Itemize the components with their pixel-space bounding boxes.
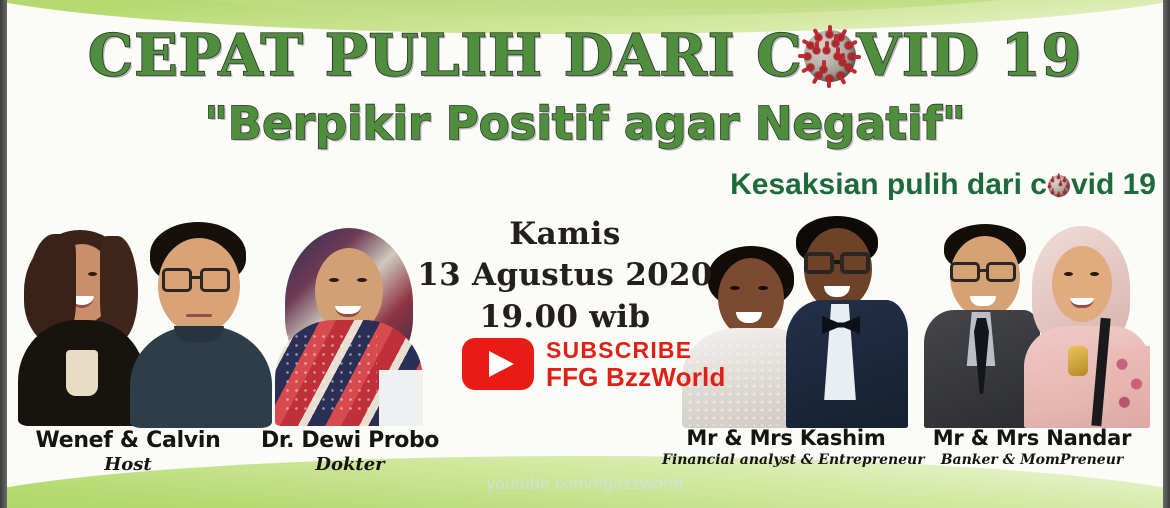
wenef-eye-right: [88, 272, 97, 276]
speaker-caption-kashim: Mr & Mrs Kashim Financial analyst & Entr…: [662, 426, 910, 470]
kashim-bride-face: [718, 258, 784, 338]
coronavirus-icon: [804, 30, 856, 82]
nandar-woman-face: [1052, 246, 1112, 322]
headline-text-after: VID 19: [857, 22, 1082, 89]
speaker-caption-nandar: Mr & Mrs Nandar Banker & MomPreneur: [912, 426, 1152, 470]
calvin-glasses-bridge: [192, 276, 200, 279]
subscribe-labels: SUBSCRIBE FFG BzzWorld: [546, 339, 726, 390]
speaker-name: Wenef & Calvin: [8, 428, 248, 454]
kashim-groom-glasses-bridge: [834, 260, 840, 264]
poster-subtitle: "Berpikir Positif agar Negatif": [0, 98, 1170, 150]
speaker-name: Mr & Mrs Kashim: [662, 426, 910, 451]
photo-dewi: [275, 228, 423, 426]
dewi-shirt: [379, 370, 423, 426]
wenef-necklace: [66, 350, 98, 396]
nandar-woman-eye-right: [1090, 272, 1099, 276]
speaker-role: Dokter: [250, 454, 450, 476]
subscribe-cta[interactable]: SUBSCRIBE FFG BzzWorld: [462, 338, 726, 390]
nandar-woman-floral-sleeve: [1110, 346, 1150, 422]
calvin-mouth: [186, 314, 212, 317]
speaker-name: Mr & Mrs Nandar: [912, 426, 1152, 451]
photo-calvin: [128, 222, 272, 428]
event-schedule: Kamis 13 Agustus 2020 19.00 wib: [410, 214, 720, 338]
event-time: 19.00 wib: [410, 296, 720, 338]
photo-wenef: [18, 228, 146, 426]
event-day: Kamis: [410, 214, 720, 254]
event-date: 13 Agustus 2020: [410, 254, 720, 296]
speaker-role: Banker & MomPreneur: [912, 451, 1152, 470]
kashim-groom-glasses-right: [840, 252, 870, 274]
speaker-role: Financial analyst & Entrepreneur: [662, 451, 910, 470]
nandar-woman-brooch: [1068, 346, 1088, 376]
nandar-man-glasses-bridge: [980, 269, 986, 272]
calvin-glasses-right: [200, 268, 230, 292]
kesaksian-line: Kesaksian pulih dari c vid 19: [730, 168, 1156, 202]
kashim-bride-eye-right: [758, 286, 768, 290]
calvin-glasses-left: [162, 268, 192, 292]
youtube-play-icon[interactable]: [462, 338, 534, 390]
right-edge-frame: [1163, 0, 1170, 508]
nandar-man-glasses-left: [950, 262, 980, 282]
photo-nandar: [924, 218, 1150, 428]
left-edge-frame: [0, 0, 7, 508]
coronavirus-body: [804, 30, 856, 82]
dewi-eye-left: [329, 278, 339, 282]
dewi-eye-right: [357, 278, 367, 282]
coronavirus-body-small: [1048, 175, 1070, 197]
nandar-woman-eye-left: [1064, 272, 1073, 276]
channel-name: FFG BzzWorld: [546, 364, 726, 390]
channel-watermark: youtube.com/ffgbzzworld: [0, 474, 1170, 494]
kesaksian-text-after: vid 19: [1071, 168, 1156, 201]
kesaksian-text-before: Kesaksian pulih dari c: [730, 168, 1047, 201]
poster-headline: CEPAT PULIH DARI C VID 19: [0, 26, 1170, 86]
poster-canvas: CEPAT PULIH DARI C VID 19 "Berpikir Posi…: [0, 0, 1170, 508]
dewi-hijab-dots: [283, 332, 377, 412]
kashim-bride-eye-left: [730, 286, 740, 290]
speaker-name: Dr. Dewi Probo: [250, 428, 450, 454]
subscribe-label: SUBSCRIBE: [546, 339, 726, 362]
speaker-role: Host: [8, 454, 248, 476]
kashim-groom-glasses-left: [804, 252, 834, 274]
speaker-caption-wenef: Wenef & Calvin Host: [8, 428, 248, 476]
speaker-caption-dewi: Dr. Dewi Probo Dokter: [250, 428, 450, 476]
coronavirus-icon-small: [1048, 175, 1070, 197]
headline-text-before: CEPAT PULIH DARI C: [88, 22, 803, 89]
nandar-man-glasses-right: [986, 262, 1016, 282]
